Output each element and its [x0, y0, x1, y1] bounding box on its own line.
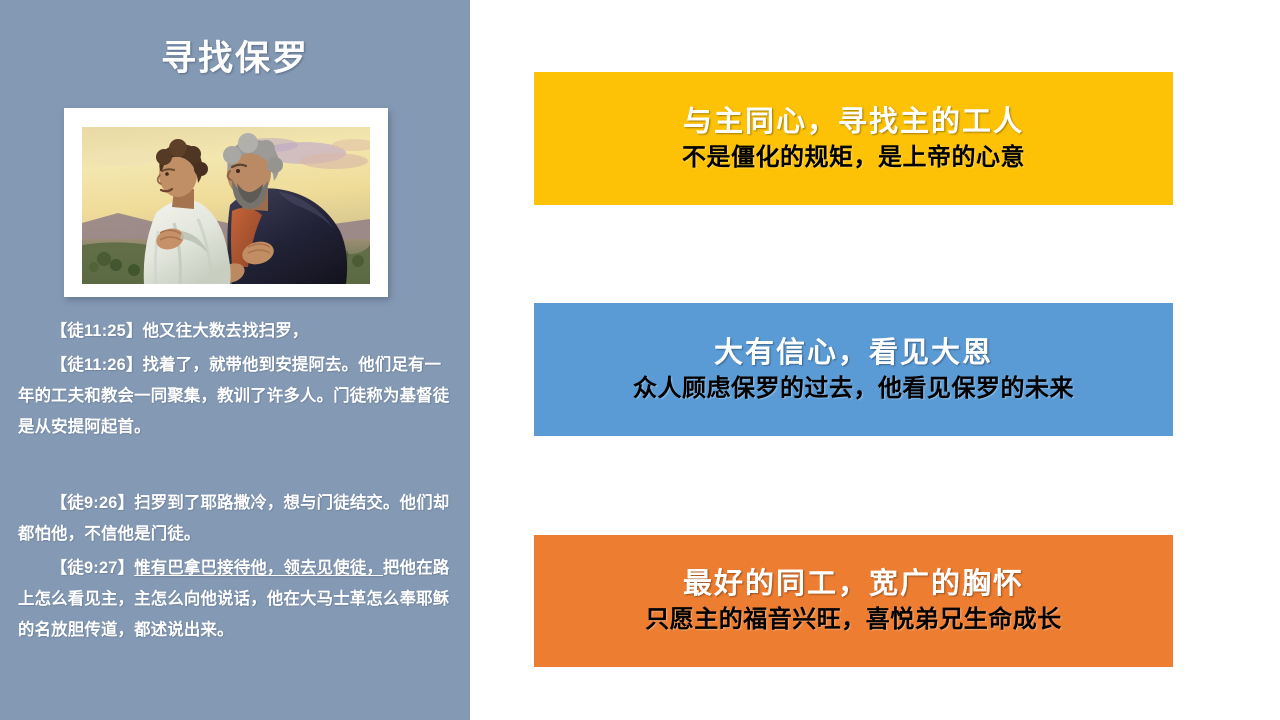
presentation-slide: 寻找保罗 — [0, 0, 1280, 720]
scripture-group-2: 【徒9:26】扫罗到了耶路撒冷，想与门徒结交。他们却都怕他，不信他是门徒。 【徒… — [18, 488, 452, 649]
point-panel-2-heading: 大有信心，看见大恩 — [714, 334, 993, 372]
verse-acts-11-25: 【徒11:25】他又往大数去找扫罗， — [18, 316, 452, 347]
sidebar-panel: 寻找保罗 — [0, 0, 470, 720]
point-panel-1-heading: 与主同心，寻找主的工人 — [683, 103, 1024, 141]
scripture-group-1: 【徒11:25】他又往大数去找扫罗， 【徒11:26】找着了，就带他到安提阿去。… — [18, 316, 452, 446]
verse-text: 他又往大数去找扫罗， — [143, 322, 309, 340]
point-panel-3-heading: 最好的同工，宽广的胸怀 — [683, 565, 1024, 603]
point-panel-3[interactable]: 最好的同工，宽广的胸怀 只愿主的福音兴旺，喜悦弟兄生命成长 — [534, 535, 1173, 667]
point-panel-2-subheading: 众人顾虑保罗的过去，他看见保罗的未来 — [633, 372, 1074, 406]
verse-reference: 【徒9:26】 — [51, 494, 134, 512]
picture-frame — [64, 108, 388, 297]
verse-text-underlined: 惟有巴拿巴接待他，领去见使徒， — [134, 559, 383, 577]
page-title: 寻找保罗 — [0, 36, 470, 82]
point-panel-3-subheading: 只愿主的福音兴旺，喜悦弟兄生命成长 — [645, 603, 1062, 637]
verse-acts-11-26: 【徒11:26】找着了，就带他到安提阿去。他们足有一年的工夫和教会一同聚集，教训… — [18, 350, 452, 443]
painting-image — [82, 127, 370, 284]
point-panel-1[interactable]: 与主同心，寻找主的工人 不是僵化的规矩，是上帝的心意 — [534, 72, 1173, 205]
verse-reference: 【徒9:27】 — [51, 559, 134, 577]
point-panel-1-subheading: 不是僵化的规矩，是上帝的心意 — [682, 141, 1025, 175]
verse-acts-9-27: 【徒9:27】惟有巴拿巴接待他，领去见使徒，把他在路上怎么看见主，主怎么向他说话… — [18, 553, 452, 646]
verse-reference: 【徒11:26】 — [51, 356, 143, 374]
verse-reference: 【徒11:25】 — [51, 322, 143, 340]
verse-acts-9-26: 【徒9:26】扫罗到了耶路撒冷，想与门徒结交。他们却都怕他，不信他是门徒。 — [18, 488, 452, 550]
point-panel-2[interactable]: 大有信心，看见大恩 众人顾虑保罗的过去，他看见保罗的未来 — [534, 303, 1173, 436]
